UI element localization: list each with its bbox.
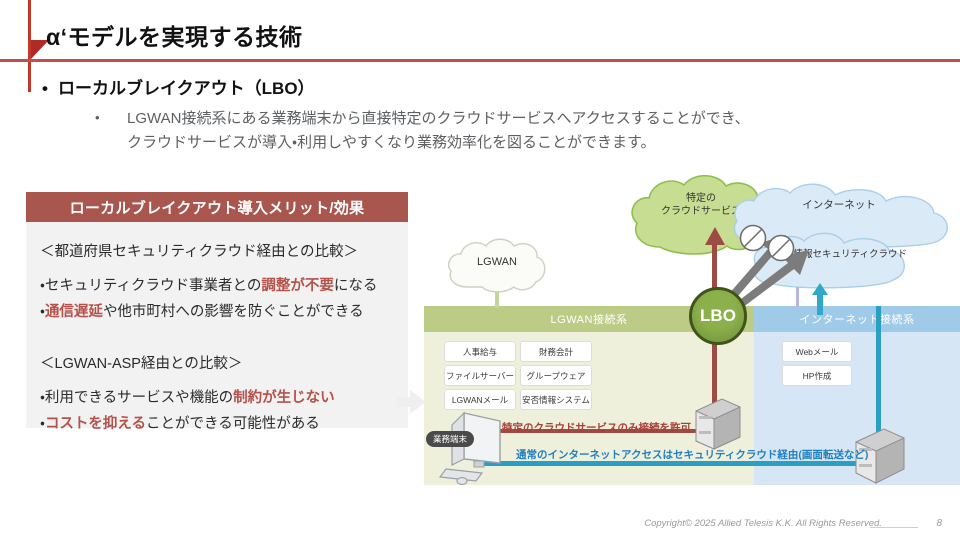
lgwan-cloud-label: LGWAN: [444, 256, 550, 270]
merit-section1-heading: ＜都道府県セキュリティクラウド経由との比較＞: [40, 240, 358, 261]
footer-rule: [870, 527, 918, 528]
service-box-lgwan-mail[interactable]: LGWANメール: [444, 389, 516, 410]
merit-panel-header: ローカルブレイクアウト導入メリット/効果: [26, 192, 408, 222]
merit-item-4-highlight: コストを抑える: [45, 416, 146, 432]
merit-section2-heading: ＜LGWAN-ASP経由との比較＞: [40, 352, 242, 373]
merit-item-2: ・通信遅延や他市町村への影響を防ぐことができる: [40, 300, 364, 321]
annotation-normal-path: 通常のインターネットアクセスはセキュリティクラウド経由(画面転送など): [516, 447, 868, 462]
merit-item-3-pre: ・利用できるサービスや機能の: [40, 390, 233, 406]
annotation-allowed-path: 特定のクラウドサービスのみ接続を許可: [502, 420, 691, 435]
bullet-level2-line1: LGWAN接続系にある業務端末から直接特定のクラウドサービスへアクセスすることが…: [127, 107, 915, 131]
service-box-fileserver[interactable]: ファイルサーバー: [444, 365, 516, 386]
merit-item-4: ・コストを抑えることができる可能性がある: [40, 412, 320, 433]
lgwan-cloud-connector: [495, 292, 499, 308]
slide-canvas: α‘モデルを実現する技術 •ローカルブレイクアウト（LBO） • LGWAN接続…: [0, 0, 960, 537]
copyright-text: Copyright© 2025 Allied Telesis K.K. All …: [644, 518, 882, 529]
merit-item-2-post: や他市町村への影響を防ぐことができる: [103, 304, 364, 320]
blocked-marker-2-icon: [766, 233, 796, 263]
bullet-level1: •ローカルブレイクアウト（LBO）: [42, 74, 315, 99]
merit-item-3: ・利用できるサービスや機能の制約が生じない: [40, 386, 335, 407]
network-diagram: LGWAN接続系 インターネット接続系 LGWAN 特定の クラウドサービス イ…: [424, 175, 960, 495]
merit-item-1-pre: ・セキュリティクラウド事業者との: [40, 278, 261, 294]
bullet-marker-icon: •: [42, 79, 58, 99]
service-box-anpi[interactable]: 安否情報システム: [520, 389, 592, 410]
service-box-groupware[interactable]: グループウェア: [520, 365, 592, 386]
service-box-zaimu[interactable]: 財務会計: [520, 341, 592, 362]
bullet-level2-line2: クラウドサービスが導入・利用しやすくなり業務効率化を図ることができます。: [127, 131, 915, 155]
bullet-level2: • LGWAN接続系にある業務端末から直接特定のクラウドサービスへアクセスするこ…: [95, 107, 915, 156]
merit-item-2-highlight: 通信遅延: [45, 304, 103, 320]
service-box-webmail[interactable]: Webメール: [782, 341, 852, 362]
merit-item-1-highlight: 調整が不要: [261, 278, 334, 294]
internet-cloud-label: インターネット: [724, 199, 954, 212]
service-box-jinji[interactable]: 人事給与: [444, 341, 516, 362]
business-terminal-badge: 業務端末: [426, 431, 474, 447]
merit-item-4-post: ことができる可能性がある: [146, 416, 320, 432]
header-horizontal-rule: [0, 59, 960, 62]
lbo-node[interactable]: LBO: [689, 287, 747, 345]
blocked-marker-1-icon: [738, 223, 768, 253]
merit-item-1-post: になる: [334, 278, 378, 294]
service-box-hp[interactable]: HP作成: [782, 365, 852, 386]
merit-panel-body: ＜都道府県セキュリティクラウド経由との比較＞ ・セキュリティクラウド事業者との調…: [26, 222, 408, 428]
merit-item-1: ・セキュリティクラウド事業者との調整が不要になる: [40, 274, 377, 295]
sub-bullet-marker-icon: •: [95, 107, 100, 128]
lbo-edge-server-icon: [692, 397, 744, 451]
page-title: α‘モデルを実現する技術: [46, 18, 303, 52]
merit-item-3-highlight: 制約が生じない: [233, 390, 335, 406]
page-number: 8: [936, 518, 942, 529]
bullet-level1-label: ローカルブレイクアウト（LBO）: [58, 79, 315, 98]
